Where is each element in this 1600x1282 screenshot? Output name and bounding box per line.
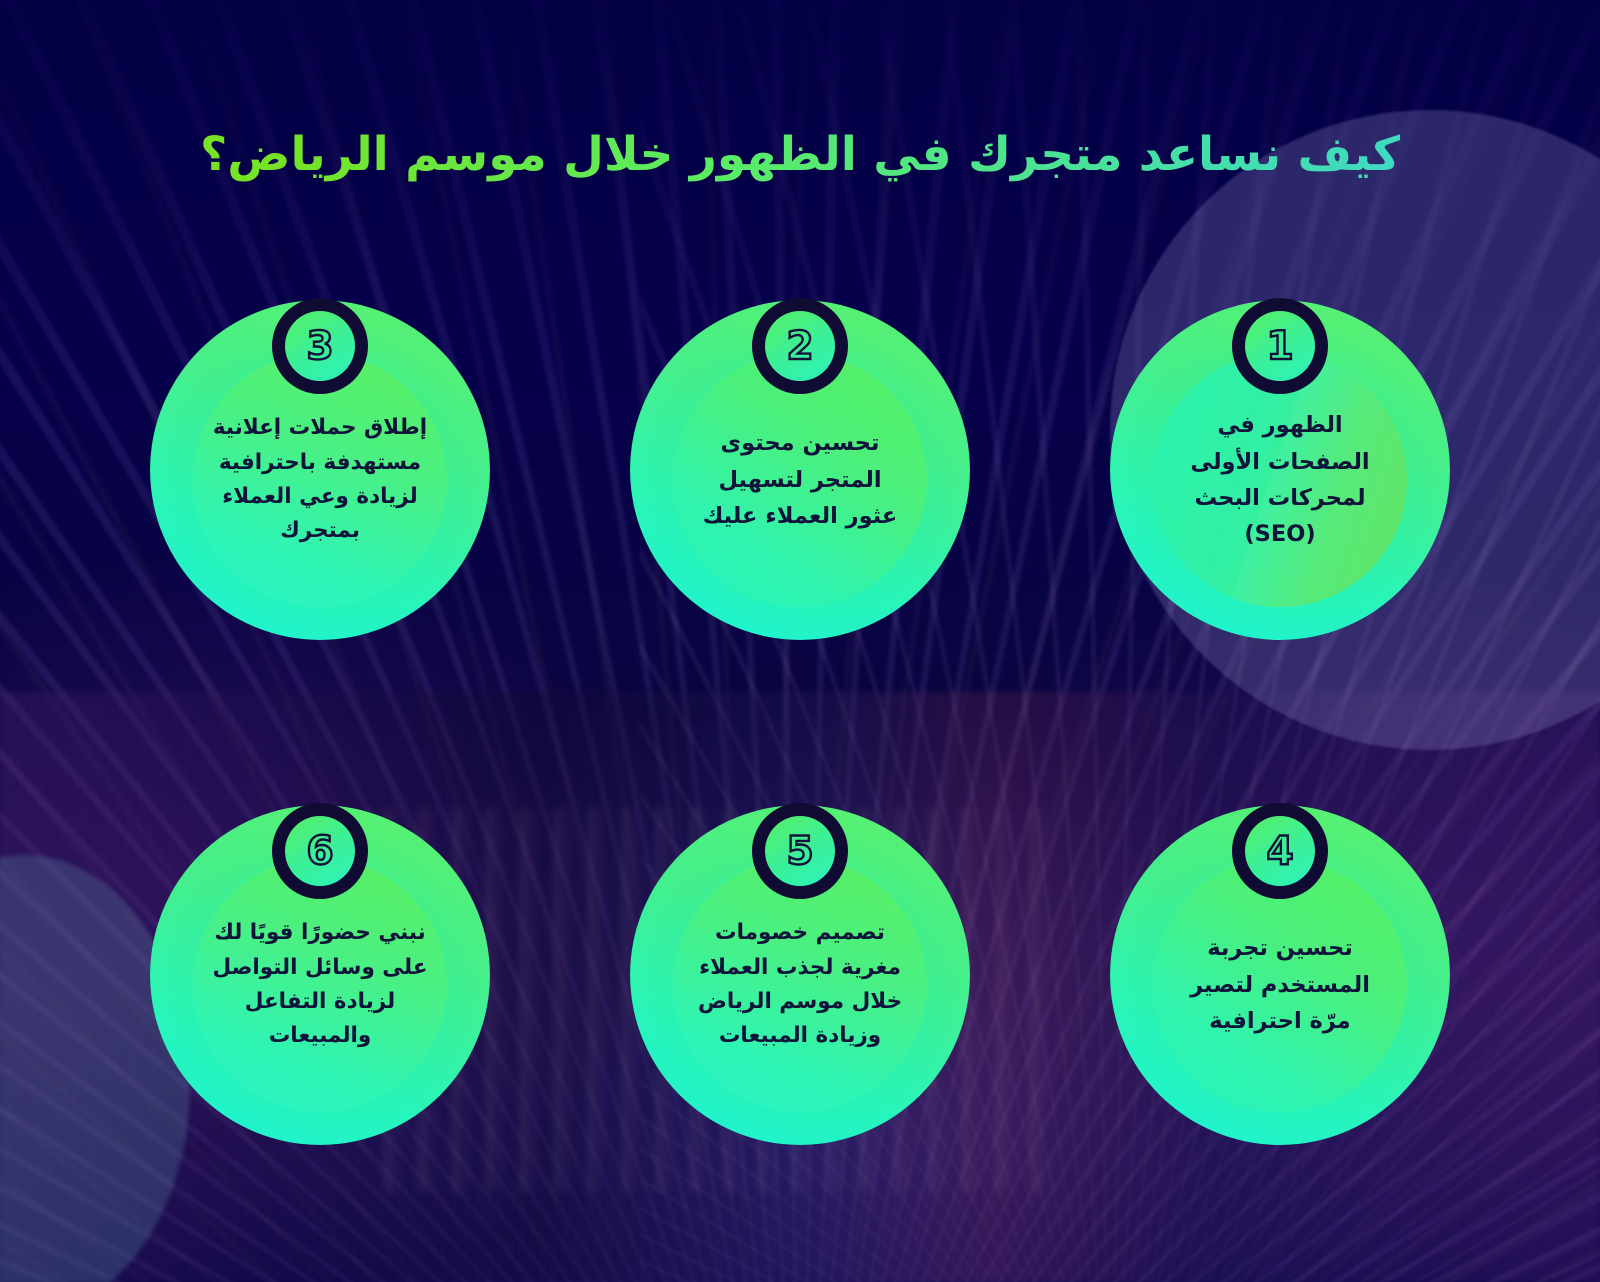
node-label: تصميم خصومات مغرية لجذب العملاء خلال موس… [691,916,909,1054]
node-badge-5: 5 [752,803,848,899]
node-badge-3: 3 [272,298,368,394]
step-node-4[interactable]: تحسين تجربة المستخدم لتصير مرّة احترافية… [1110,805,1450,1145]
node-label: تحسين تجربة المستخدم لتصير مرّة احترافية [1173,931,1387,1040]
step-node-6[interactable]: نبني حضورًا قويًا لك على وسائل التواصل ل… [150,805,490,1145]
node-badge-1: 1 [1232,298,1328,394]
badge-number: 4 [1266,832,1293,871]
badge-pill: 3 [285,311,355,381]
badge-number: 3 [306,327,333,366]
node-badge-6: 6 [272,803,368,899]
step-node-2[interactable]: تحسين محتوى المتجر لتسهيل عثور العملاء ع… [630,300,970,640]
node-label: نبني حضورًا قويًا لك على وسائل التواصل ل… [211,916,429,1054]
step-node-1[interactable]: الظهور في الصفحات الأولى لمحركات البحث (… [1110,300,1450,640]
step-node-3[interactable]: إطلاق حملات إعلانية مستهدفة باحترافية لز… [150,300,490,640]
node-badge-4: 4 [1232,803,1328,899]
infographic-canvas: كيف نساعد متجرك في الظهور خلال موسم الري… [0,0,1600,1282]
badge-number: 6 [306,832,333,871]
node-badge-2: 2 [752,298,848,394]
badge-pill: 4 [1245,816,1315,886]
node-label: إطلاق حملات إعلانية مستهدفة باحترافية لز… [211,411,429,549]
badge-pill: 1 [1245,311,1315,381]
badge-number: 5 [786,832,813,871]
page-title: كيف نساعد متجرك في الظهور خلال موسم الري… [0,127,1600,183]
badge-pill: 5 [765,816,835,886]
node-label: تحسين محتوى المتجر لتسهيل عثور العملاء ع… [693,426,907,535]
badge-number: 1 [1266,327,1293,366]
node-label: الظهور في الصفحات الأولى لمحركات البحث (… [1173,407,1387,553]
badge-number: 2 [786,327,813,366]
badge-pill: 6 [285,816,355,886]
step-node-5[interactable]: تصميم خصومات مغرية لجذب العملاء خلال موس… [630,805,970,1145]
badge-pill: 2 [765,311,835,381]
